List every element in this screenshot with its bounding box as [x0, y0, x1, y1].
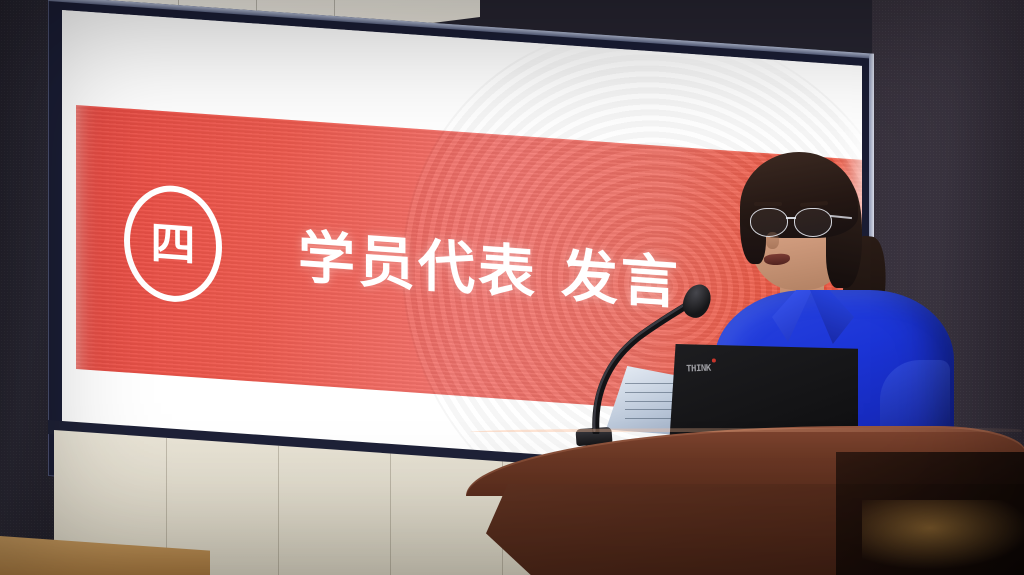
slide-title: 学员代表 发言 [298, 211, 681, 320]
lens-left [750, 208, 788, 237]
section-number-circle: 四 [124, 182, 222, 305]
podium-top-edge-highlight [470, 428, 1022, 432]
podium-warm-highlight [862, 500, 1024, 570]
logo-red-dot [712, 358, 716, 362]
photo-scene: 四 学员代表 发言 [0, 0, 1024, 575]
section-number-text: 四 [150, 220, 195, 268]
glasses-bridge [786, 217, 796, 219]
glasses-temple [830, 215, 852, 219]
eyebrow-left [754, 202, 782, 206]
laptop-brand-logo-icon: THINK [686, 357, 716, 369]
lens-right [794, 208, 832, 237]
eyeglasses-icon [748, 208, 852, 236]
